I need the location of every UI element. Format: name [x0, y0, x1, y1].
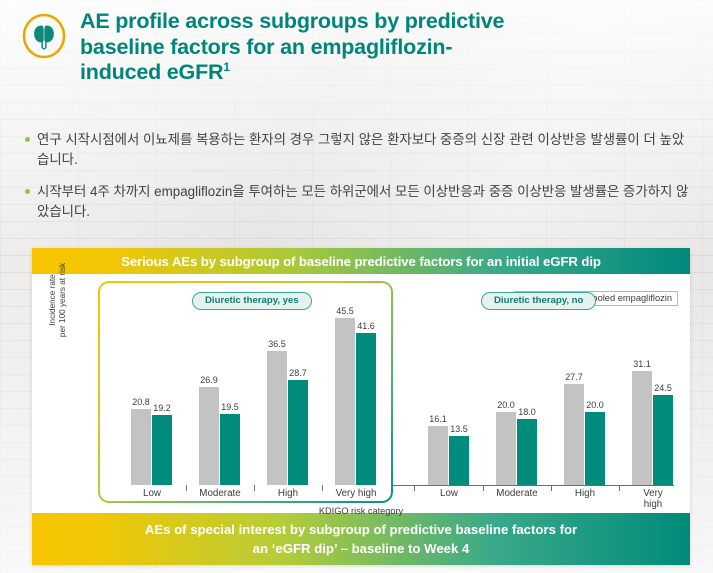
- x-tick: [619, 485, 620, 491]
- x-tick: [483, 485, 484, 491]
- chart-card: Serious AEs by subgroup of baseline pred…: [32, 248, 690, 565]
- bar-empagliflozin-no-moderate: 18.0: [517, 419, 537, 485]
- chart-bottom-banner-line-2: an ‘eGFR dip’ – baseline to Week 4: [253, 539, 470, 558]
- x-label-yes-high: High: [278, 488, 298, 499]
- bar-empagliflozin-no-very-high: 24.5: [653, 395, 673, 485]
- x-tick: [551, 485, 552, 491]
- bar-empagliflozin-no-high: 20.0: [585, 412, 605, 485]
- x-label-yes-very-high: Very high: [336, 488, 377, 499]
- x-label-yes-moderate: Moderate: [199, 488, 240, 499]
- bullet-list: 연구 시작시점에서 이뇨제를 복용하는 환자의 경우 그렇지 않은 환자보다 중…: [24, 130, 694, 234]
- page-title-footnote-marker: 1: [223, 60, 229, 74]
- page-title-line-1: AE profile across subgroups by predictiv…: [80, 9, 504, 33]
- bar-value: 16.1: [429, 414, 447, 424]
- x-label-yes-low: Low: [143, 488, 161, 499]
- bar-value: 24.5: [654, 383, 672, 393]
- bar-value: 20.8: [132, 397, 150, 407]
- bar-value: 20.0: [497, 400, 515, 410]
- bar-value: 13.5: [450, 424, 468, 434]
- bar-value: 27.7: [565, 372, 583, 382]
- x-tick: [322, 485, 323, 491]
- page-title: AE profile across subgroups by predictiv…: [80, 9, 690, 86]
- slide: AE profile across subgroups by predictiv…: [0, 0, 713, 573]
- bullet-dot-icon: [25, 189, 30, 194]
- x-axis-title: KDIGO risk category: [32, 506, 690, 516]
- bar-value: 18.0: [518, 407, 536, 417]
- bar-value: 26.9: [200, 375, 218, 385]
- bar-empagliflozin-yes-very-high: 41.6: [356, 333, 376, 485]
- page-title-line-3: induced eGFR: [80, 60, 223, 84]
- bar-placebo-no-low: 16.1: [428, 426, 448, 485]
- chart-top-banner: Serious AEs by subgroup of baseline pred…: [32, 248, 690, 274]
- chart-bars: 20.8 19.2 26.9 19.5 36.5 28.7: [32, 274, 690, 513]
- chart-bottom-banner: AEs of special interest by subgroup of p…: [32, 513, 690, 565]
- x-tick: [186, 485, 187, 491]
- bar-value: 45.5: [336, 306, 354, 316]
- bar-placebo-yes-moderate: 26.9: [199, 387, 219, 485]
- bar-placebo-no-very-high: 31.1: [632, 371, 652, 485]
- x-label-no-low: Low: [440, 488, 458, 499]
- bar-empagliflozin-yes-high: 28.7: [288, 380, 308, 485]
- bar-value: 19.2: [153, 403, 171, 413]
- bullet-dot-icon: [25, 137, 30, 142]
- x-label-no-moderate: Moderate: [496, 488, 537, 499]
- bar-empagliflozin-yes-moderate: 19.5: [220, 414, 240, 485]
- panel-label-diuretic-no: Diuretic therapy, no: [481, 292, 596, 310]
- bar-placebo-yes-very-high: 45.5: [335, 318, 355, 485]
- x-label-no-high: High: [575, 488, 595, 499]
- page-title-line-2: baseline factors for an empagliflozin-: [80, 35, 452, 59]
- panel-label-diuretic-yes: Diuretic therapy, yes: [192, 292, 312, 310]
- bar-placebo-no-moderate: 20.0: [496, 412, 516, 485]
- bar-value: 28.7: [289, 368, 307, 378]
- bar-empagliflozin-yes-low: 19.2: [152, 415, 172, 485]
- bar-value: 36.5: [268, 339, 286, 349]
- slide-header: AE profile across subgroups by predictiv…: [0, 0, 713, 118]
- bar-placebo-yes-low: 20.8: [131, 409, 151, 485]
- x-tick: [414, 485, 415, 491]
- bar-placebo-yes-high: 36.5: [267, 351, 287, 485]
- list-item: 시작부터 4주 차까지 empagliflozin을 투여하는 모든 하위군에서…: [24, 182, 694, 222]
- bar-value: 31.1: [633, 359, 651, 369]
- kidneys-icon: [21, 13, 67, 59]
- bar-value: 20.0: [586, 400, 604, 410]
- bar-empagliflozin-no-low: 13.5: [449, 436, 469, 485]
- bullet-text: 시작부터 4주 차까지 empagliflozin을 투여하는 모든 하위군에서…: [37, 184, 688, 219]
- chart-bottom-banner-line-1: AEs of special interest by subgroup of p…: [145, 520, 577, 539]
- x-tick: [254, 485, 255, 491]
- bullet-text: 연구 시작시점에서 이뇨제를 복용하는 환자의 경우 그렇지 않은 환자보다 중…: [37, 132, 684, 167]
- list-item: 연구 시작시점에서 이뇨제를 복용하는 환자의 경우 그렇지 않은 환자보다 중…: [24, 130, 694, 170]
- bar-value: 19.5: [221, 402, 239, 412]
- chart-plot-area: Placebo Pooled empagliflozin Incidence r…: [32, 274, 690, 513]
- bar-value: 41.6: [357, 321, 375, 331]
- bar-placebo-no-high: 27.7: [564, 384, 584, 485]
